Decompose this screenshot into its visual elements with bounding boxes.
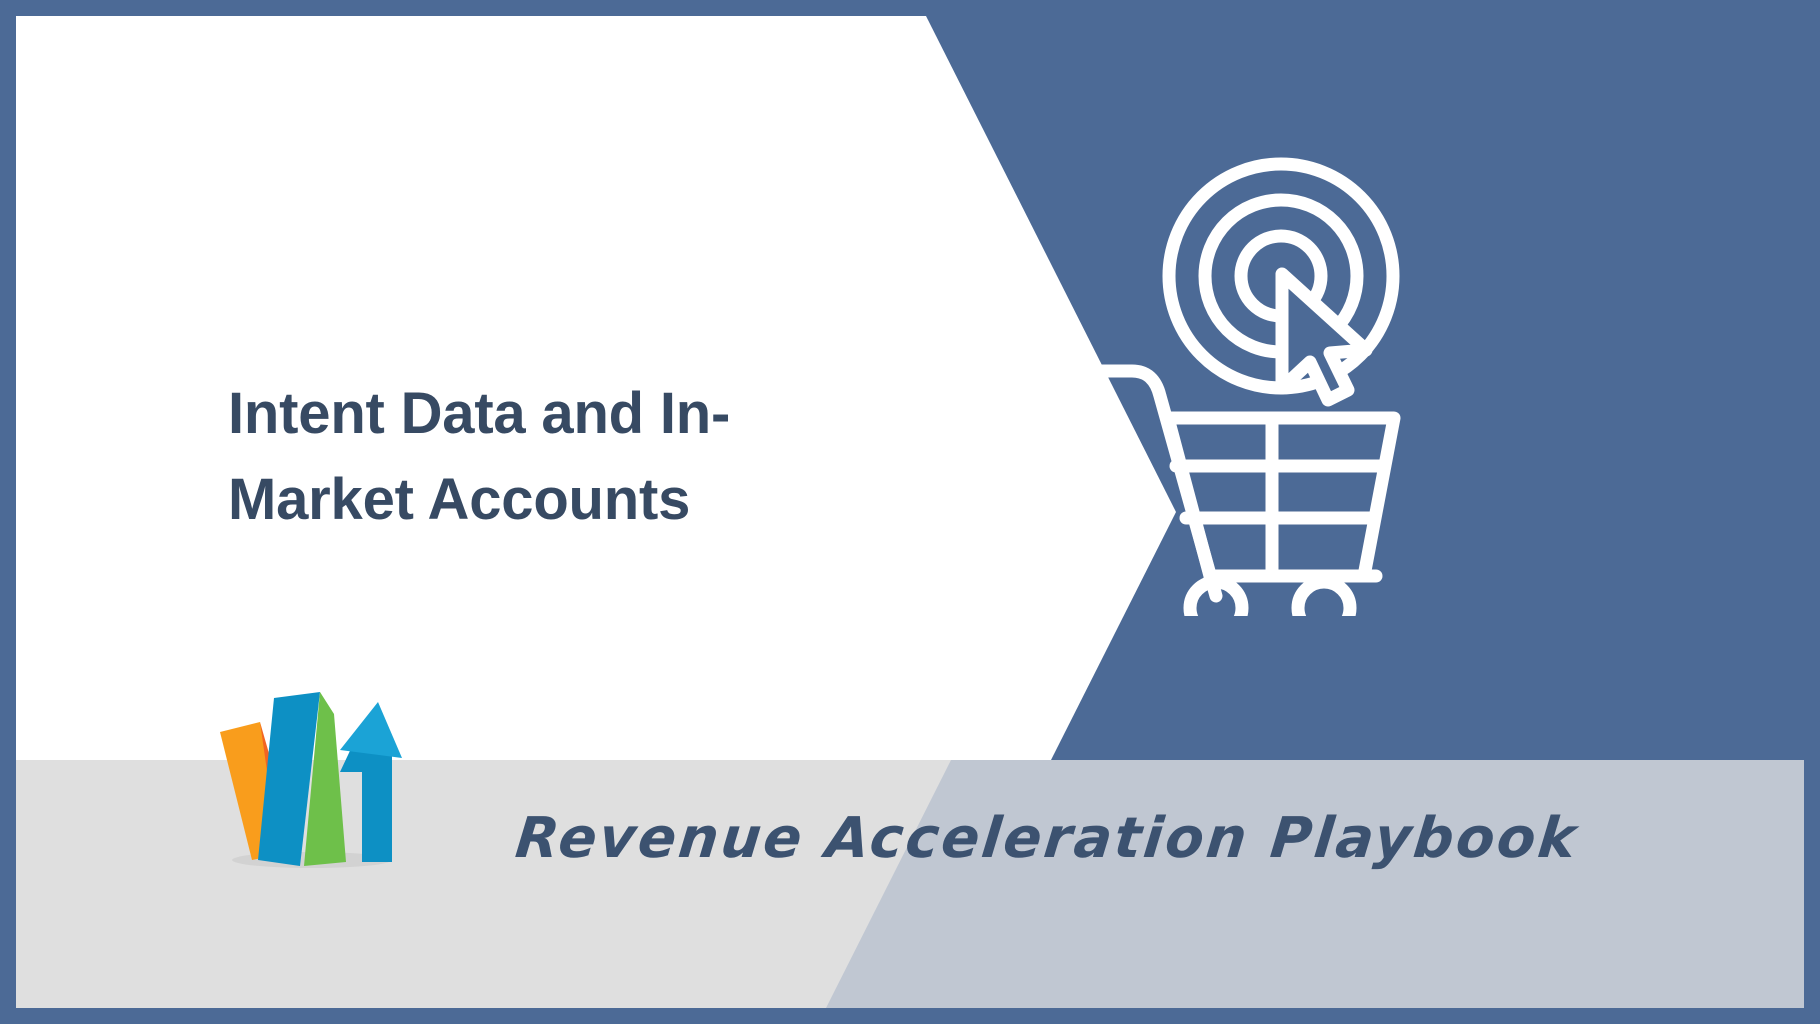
hero-illustration	[1076, 156, 1416, 616]
logo-arrow-head	[340, 702, 402, 758]
w-arrow-logo-icon	[212, 684, 404, 874]
page-title: Intent Data and In- Market Accounts	[228, 371, 928, 543]
target-cursor-shopping-cart-icon	[1076, 156, 1416, 616]
brand-logo	[212, 684, 404, 874]
slide-canvas: Intent Data and In- Market Accounts Reve…	[16, 16, 1804, 1008]
logo-arrow-shaft	[340, 738, 392, 862]
page-title-line-1: Intent Data and In-	[228, 371, 928, 457]
page-title-line-2: Market Accounts	[228, 457, 928, 543]
tagline-text: Revenue Acceleration Playbook	[513, 806, 1582, 871]
shopping-cart-icon	[1094, 371, 1394, 616]
